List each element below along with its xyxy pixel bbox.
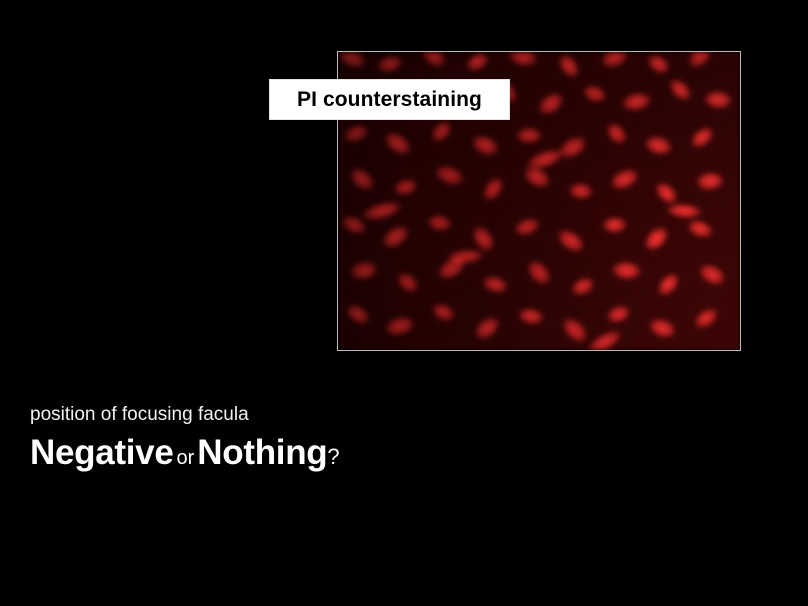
- headline-question-mark: ?: [327, 444, 339, 469]
- subtitle-text: position of focusing facula: [30, 403, 450, 427]
- headline-text: NegativeorNothing?: [30, 431, 450, 482]
- headline-conjunction: or: [174, 447, 198, 469]
- headline-word-negative: Negative: [30, 433, 174, 472]
- headline-word-nothing: Nothing: [197, 433, 327, 472]
- slide-text-block: position of focusing facula NegativeorNo…: [30, 403, 450, 482]
- presentation-slide: PI counterstaining position of focusing …: [0, 0, 808, 606]
- micrograph-caption-label: PI counterstaining: [297, 88, 482, 112]
- micrograph-caption-box: PI counterstaining: [269, 79, 510, 120]
